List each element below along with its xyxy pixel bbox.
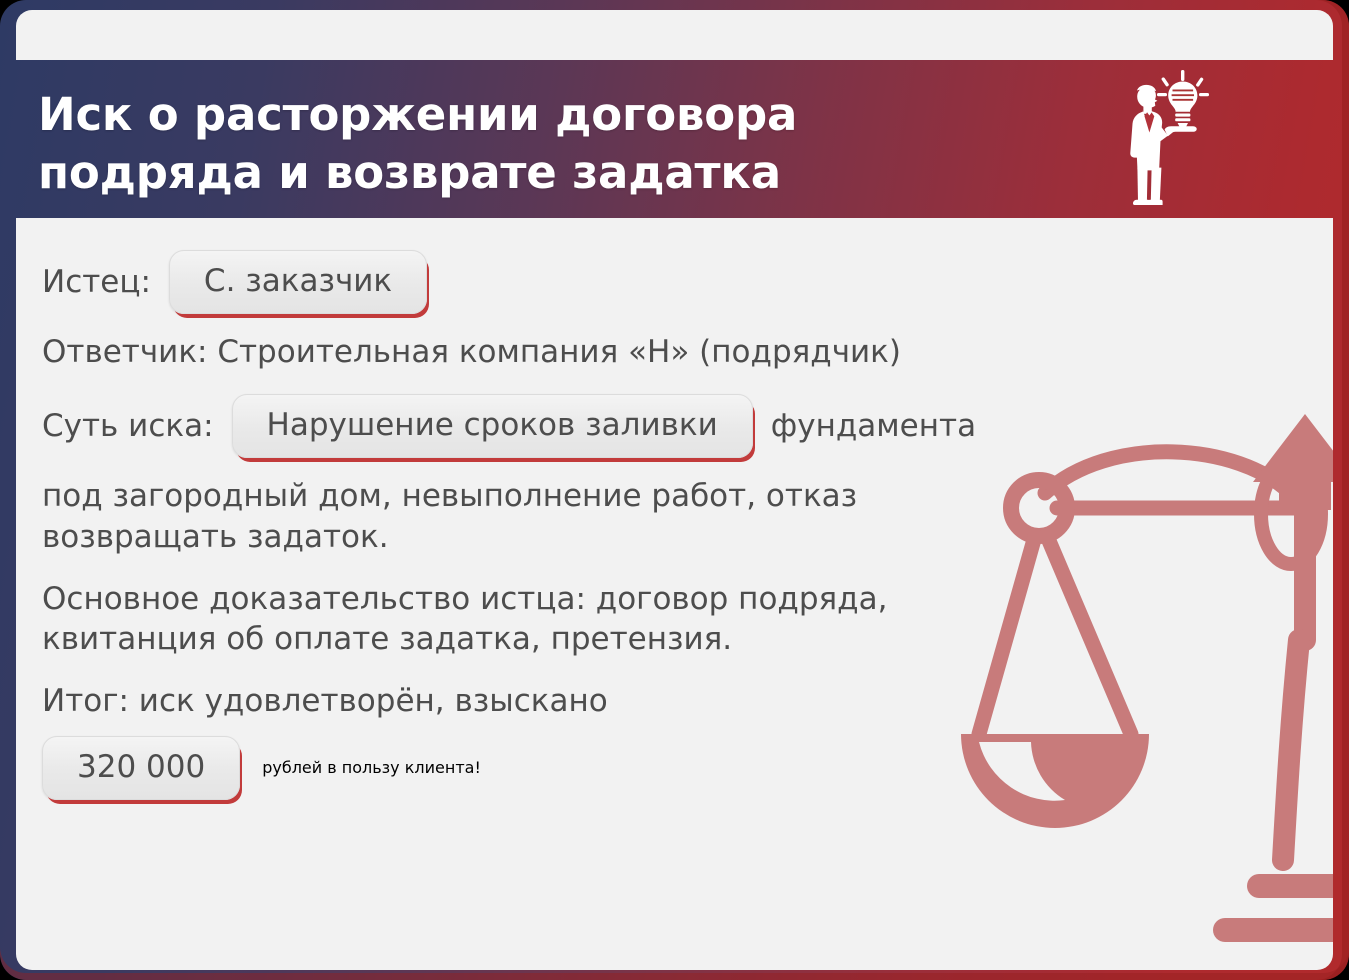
result-after-text: рублей в пользу клиента! <box>262 758 481 777</box>
plaintiff-label: Истец: <box>42 264 151 300</box>
result-row: 320 000 рублей в пользу клиента! <box>42 736 1052 800</box>
claim-row: Суть иска: Нарушение сроков заливки фунд… <box>42 394 1052 458</box>
page-title: Иск о расторжении договора подряда и воз… <box>38 86 838 201</box>
defendant-text: Ответчик: Строительная компания «Н» (под… <box>42 332 1052 372</box>
claim-after-text: фундамента <box>771 408 976 444</box>
case-details: Истец: С. заказчик Ответчик: Строительна… <box>42 250 1052 800</box>
plaintiff-value-chip[interactable]: С. заказчик <box>169 250 427 314</box>
card-header: Иск о расторжении договора подряда и воз… <box>0 60 1349 218</box>
awarded-amount-chip[interactable]: 320 000 <box>42 736 240 800</box>
plaintiff-row: Истец: С. заказчик <box>42 250 1052 314</box>
businessman-with-lightbulb-icon <box>1101 66 1221 216</box>
evidence-text: Основное доказательство истца: договор п… <box>42 579 1052 660</box>
claim-continuation-text: под загородный дом, невыполнение работ, … <box>42 476 1052 557</box>
result-text: Итог: иск удовлетворён, взыскано <box>42 681 1052 721</box>
card-body: Истец: С. заказчик Ответчик: Строительна… <box>16 218 1333 970</box>
claim-value-chip[interactable]: Нарушение сроков заливки <box>232 394 753 458</box>
claim-label: Суть иска: <box>42 408 214 444</box>
card-top-strip <box>16 10 1333 60</box>
case-summary-card: Иск о расторжении договора подряда и воз… <box>0 0 1349 980</box>
